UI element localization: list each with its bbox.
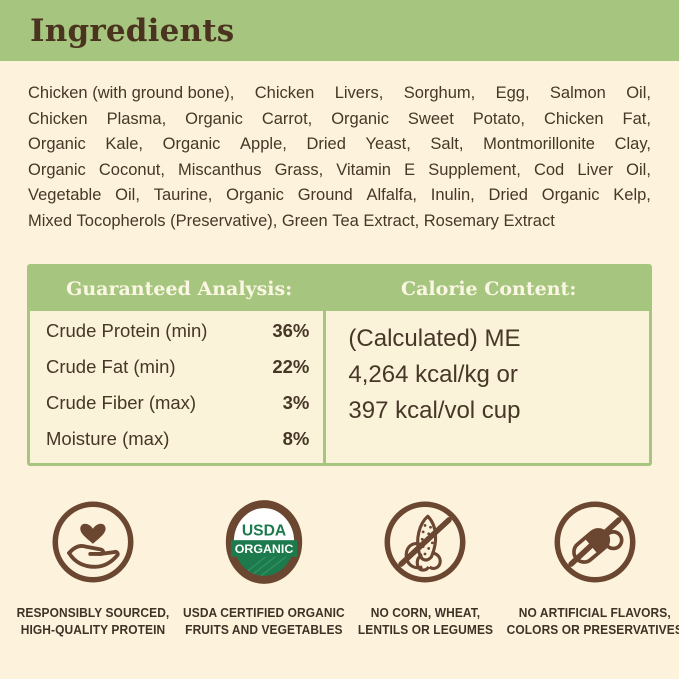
badge-usda-organic: USDA ORGANIC USDA CERTIFIED ORGANIC FRUI…	[176, 496, 352, 639]
badge-caption-line: RESPONSIBLY SOURCED,	[17, 604, 170, 622]
ingredient-word: Oil,	[626, 158, 651, 184]
ingredient-word: Kelp,	[613, 183, 651, 209]
ingredient-word: Chicken	[28, 107, 88, 133]
ingredients-list: Chicken (with ground bone),ChickenLivers…	[0, 61, 679, 235]
ingredient-word: Chicken (with ground bone),	[28, 81, 234, 107]
ingredient-word: Green	[282, 209, 328, 235]
calorie-content-header: Calorie Content:	[328, 267, 649, 311]
ingredient-word: Alfalfa,	[367, 183, 417, 209]
ingredient-word: Rosemary	[424, 209, 499, 235]
ingredient-word: Organic	[28, 158, 86, 184]
nutrition-panel-headers: Guaranteed Analysis: Calorie Content:	[30, 267, 649, 311]
ingredients-line: VegetableOil,Taurine,OrganicGroundAlfalf…	[28, 183, 651, 209]
ingredient-word: Plasma,	[107, 107, 167, 133]
ingredient-word: Organic	[226, 183, 284, 209]
ingredient-word: Organic	[542, 183, 600, 209]
ingredient-word: Chicken	[544, 107, 604, 133]
no-corn-icon	[379, 496, 471, 588]
ingredient-word: Coconut,	[99, 158, 165, 184]
ingredient-word: Salmon	[550, 81, 606, 107]
ingredient-word: Inulin,	[431, 183, 475, 209]
ingredient-word: Tocopherols (Preservative),	[77, 209, 278, 235]
ingredient-word: Dried	[489, 183, 528, 209]
feature-badges: RESPONSIBLY SOURCED, HIGH-QUALITY PROTEI…	[0, 496, 679, 639]
calorie-line: 4,264 kcal/kg or	[348, 357, 639, 393]
ingredient-word: Grass,	[275, 158, 324, 184]
ingredient-word: Organic	[331, 107, 389, 133]
ingredient-word: Oil,	[626, 81, 651, 107]
badge-caption-line: LENTILS OR LEGUMES	[358, 621, 493, 639]
ingredient-word: Mixed	[28, 209, 72, 235]
calorie-line: (Calculated) ME	[348, 321, 639, 357]
badge-caption: NO CORN, WHEAT, LENTILS OR LEGUMES	[358, 604, 493, 639]
ingredient-word: Apple,	[240, 132, 287, 158]
badge-caption-line: NO ARTIFICIAL FLAVORS,	[506, 604, 679, 622]
analysis-value: 22%	[272, 356, 309, 378]
ingredients-line: MixedTocopherols (Preservative),GreenTea…	[28, 209, 651, 235]
badge-responsibly-sourced: RESPONSIBLY SOURCED, HIGH-QUALITY PROTEI…	[10, 496, 176, 639]
ingredient-word: Fat,	[623, 107, 651, 133]
analysis-label: Crude Protein (min)	[46, 320, 207, 342]
nutrition-panel: Guaranteed Analysis: Calorie Content: Cr…	[27, 264, 652, 466]
no-artificial-additives-icon	[549, 496, 641, 588]
hand-holding-heart-icon	[47, 496, 139, 588]
badge-no-artificial-additives: NO ARTIFICIAL FLAVORS, COLORS OR PRESERV…	[499, 496, 679, 639]
ingredient-word: Kale,	[105, 132, 143, 158]
nutrition-panel-body: Crude Protein (min) 36% Crude Fat (min) …	[30, 311, 649, 464]
ingredient-word: Extract,	[363, 209, 419, 235]
badge-caption: RESPONSIBLY SOURCED, HIGH-QUALITY PROTEI…	[17, 604, 170, 639]
ingredient-word: Supplement,	[428, 158, 521, 184]
badge-caption: USDA CERTIFIED ORGANIC FRUITS AND VEGETA…	[183, 604, 345, 639]
ingredient-word: Potato,	[473, 107, 525, 133]
badge-no-corn: NO CORN, WHEAT, LENTILS OR LEGUMES	[352, 496, 499, 639]
analysis-label: Crude Fiber (max)	[46, 392, 196, 414]
calorie-line: 397 kcal/vol cup	[348, 393, 639, 429]
ingredient-word: Organic	[185, 107, 243, 133]
ingredient-word: Yeast,	[366, 132, 411, 158]
badge-caption-line: FRUITS AND VEGETABLES	[183, 621, 345, 639]
badge-caption-line: HIGH-QUALITY PROTEIN	[17, 621, 170, 639]
ingredients-line: OrganicKale,OrganicApple,DriedYeast,Salt…	[28, 132, 651, 158]
ingredient-word: Salt,	[430, 132, 463, 158]
ingredients-line: Chicken (with ground bone),ChickenLivers…	[28, 81, 651, 107]
ingredient-word: Egg,	[496, 81, 530, 107]
calorie-content-text: (Calculated) ME 4,264 kcal/kg or 397 kca…	[326, 311, 649, 464]
table-row: Crude Protein (min) 36%	[46, 320, 309, 356]
ingredients-header-band: Ingredients	[0, 0, 679, 61]
ingredient-word: Miscanthus	[178, 158, 261, 184]
ingredient-word: E	[404, 158, 415, 184]
guaranteed-analysis-header: Guaranteed Analysis:	[30, 267, 328, 311]
analysis-value: 36%	[272, 320, 309, 342]
ingredient-word: Vegetable	[28, 183, 101, 209]
analysis-label: Moisture (max)	[46, 428, 169, 450]
badge-caption-line: USDA CERTIFIED ORGANIC	[183, 604, 345, 622]
table-row: Moisture (max) 8%	[46, 428, 309, 464]
ingredient-word: Dried	[306, 132, 345, 158]
analysis-label: Crude Fat (min)	[46, 356, 176, 378]
ingredient-word: Vitamin	[336, 158, 391, 184]
ingredient-word: Cod	[534, 158, 564, 184]
ingredient-word: Extract	[503, 209, 554, 235]
ingredients-line: OrganicCoconut,MiscanthusGrass,VitaminES…	[28, 158, 651, 184]
analysis-value: 3%	[283, 392, 310, 414]
ingredient-word: Carrot,	[262, 107, 312, 133]
usda-organic-seal-icon: USDA ORGANIC	[218, 496, 310, 588]
badge-caption: NO ARTIFICIAL FLAVORS, COLORS OR PRESERV…	[506, 604, 679, 639]
ingredient-word: Oil,	[115, 183, 140, 209]
ingredient-word: Organic	[163, 132, 221, 158]
ingredient-word: Taurine,	[154, 183, 213, 209]
seal-bottom-text: ORGANIC	[235, 542, 294, 556]
ingredient-word: Liver	[577, 158, 613, 184]
guaranteed-analysis-table: Crude Protein (min) 36% Crude Fat (min) …	[30, 311, 323, 464]
ingredient-word: Ground	[298, 183, 353, 209]
analysis-value: 8%	[283, 428, 310, 450]
ingredient-word: Tea	[332, 209, 359, 235]
ingredient-word: Sorghum,	[404, 81, 476, 107]
seal-top-text: USDA	[242, 522, 286, 539]
badge-caption-line: NO CORN, WHEAT,	[358, 604, 493, 622]
table-row: Crude Fiber (max) 3%	[46, 392, 309, 428]
ingredient-word: Livers,	[335, 81, 384, 107]
table-row: Crude Fat (min) 22%	[46, 356, 309, 392]
ingredient-word: Chicken	[255, 81, 315, 107]
badge-caption-line: COLORS OR PRESERVATIVES	[506, 621, 679, 639]
ingredient-word: Organic	[28, 132, 86, 158]
ingredient-word: Sweet	[408, 107, 454, 133]
ingredient-word: Clay,	[615, 132, 651, 158]
page-title: Ingredients	[30, 13, 234, 49]
ingredients-line: ChickenPlasma,OrganicCarrot,OrganicSweet…	[28, 107, 651, 133]
ingredient-word: Montmorillonite	[483, 132, 595, 158]
